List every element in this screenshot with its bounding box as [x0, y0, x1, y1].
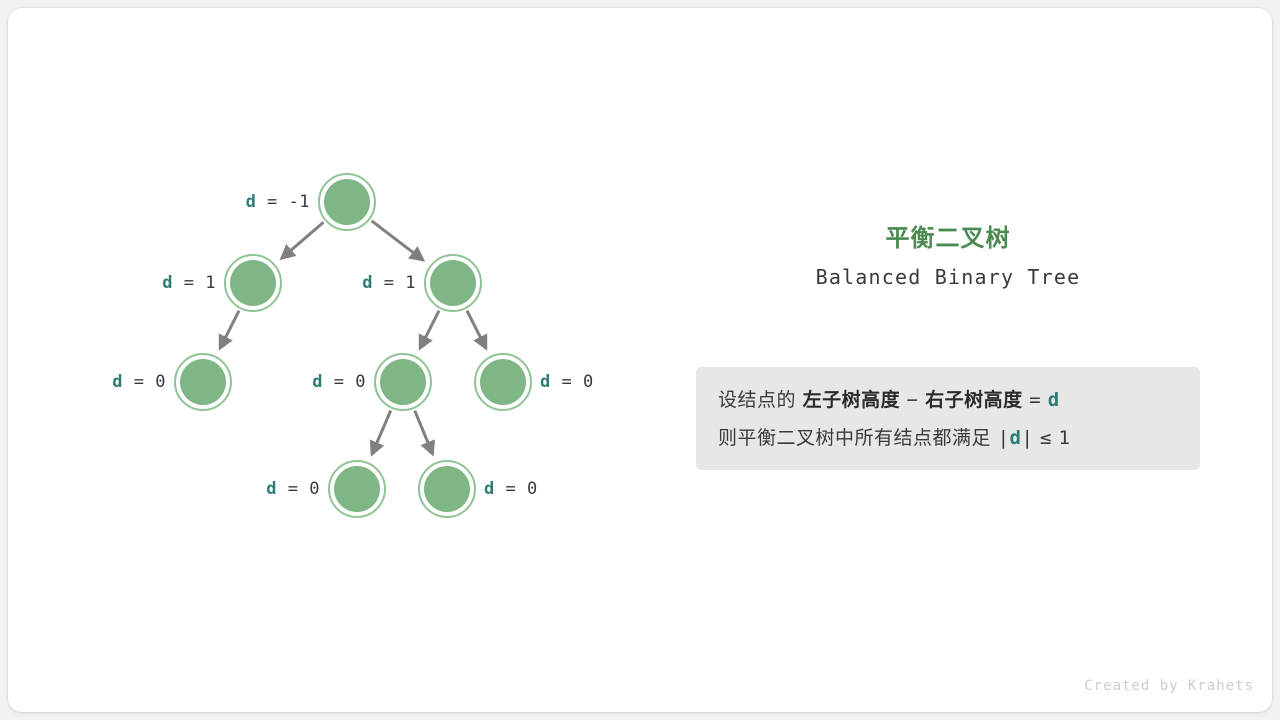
binary-tree-diagram [0, 0, 1280, 720]
node-label-value: = 0 [277, 479, 320, 499]
node-label-variable: d [362, 273, 373, 293]
tree-node[interactable] [475, 354, 531, 410]
node-label-value: = 0 [323, 372, 366, 392]
tree-edge [282, 222, 324, 258]
tree-edge [467, 311, 486, 348]
node-balance-label: d = 1 [162, 273, 216, 293]
node-fill [230, 260, 276, 306]
node-fill [324, 179, 370, 225]
tree-node[interactable] [329, 461, 385, 517]
node-label-value: = 1 [173, 273, 216, 293]
credit-footer: Created by Krahets [1084, 678, 1254, 694]
tree-edge [372, 221, 423, 260]
node-balance-label: d = 0 [312, 372, 366, 392]
node-fill [480, 359, 526, 405]
definition-box: 设结点的 左子树高度 − 右子树高度 = d 则平衡二叉树中所有结点都满足 |d… [696, 367, 1200, 470]
panel-subtitle: Balanced Binary Tree [696, 262, 1200, 292]
node-label-value: = 0 [551, 372, 594, 392]
minus-operator: − [907, 389, 919, 411]
node-fill [180, 359, 226, 405]
tree-node[interactable] [175, 354, 231, 410]
node-balance-label: d = 0 [112, 372, 166, 392]
node-label-variable: d [540, 372, 551, 392]
panel-title: 平衡二叉树 [696, 222, 1200, 254]
node-label-variable: d [112, 372, 123, 392]
abs-bar-close: | [1021, 427, 1033, 449]
d-variable-abs: d [1010, 427, 1022, 449]
node-balance-label: d = 0 [540, 372, 594, 392]
definition-line-1: 设结点的 左子树高度 − 右子树高度 = d [718, 381, 1178, 419]
node-label-variable: d [312, 372, 323, 392]
definition-prefix: 设结点的 [718, 389, 796, 411]
tree-node[interactable] [425, 255, 481, 311]
tree-nodes [175, 174, 531, 517]
node-label-value: = -1 [256, 192, 310, 212]
node-balance-label: d = 0 [484, 479, 538, 499]
node-balance-label: d = 1 [362, 273, 416, 293]
node-fill [380, 359, 426, 405]
node-balance-label: d = 0 [266, 479, 320, 499]
node-label-variable: d [246, 192, 257, 212]
node-label-variable: d [484, 479, 495, 499]
definition-line-2: 则平衡二叉树中所有结点都满足 |d| ≤ 1 [718, 419, 1178, 457]
node-label-variable: d [162, 273, 173, 293]
node-balance-label: d = -1 [246, 192, 310, 212]
node-label-value: = 0 [123, 372, 166, 392]
info-panel: 平衡二叉树 Balanced Binary Tree [696, 222, 1200, 292]
abs-bar-open: | [998, 427, 1010, 449]
tree-edge [372, 410, 391, 454]
node-fill [424, 466, 470, 512]
bound-value: 1 [1058, 427, 1070, 449]
tree-node[interactable] [319, 174, 375, 230]
screenshot-canvas: d = -1d = 1d = 1d = 0d = 0d = 0d = 0d = … [0, 0, 1280, 720]
tree-node[interactable] [419, 461, 475, 517]
tree-node[interactable] [375, 354, 431, 410]
d-variable: d [1048, 389, 1060, 411]
equals-operator: = [1029, 389, 1041, 411]
right-subtree-height-term: 右子树高度 [925, 389, 1023, 411]
tree-edge [220, 311, 239, 348]
node-label-value: = 0 [495, 479, 538, 499]
less-equal-operator: ≤ [1040, 427, 1052, 449]
left-subtree-height-term: 左子树高度 [803, 389, 901, 411]
tree-edge [420, 311, 439, 348]
node-label-value: = 1 [373, 273, 416, 293]
node-fill [334, 466, 380, 512]
node-label-variable: d [266, 479, 277, 499]
node-fill [430, 260, 476, 306]
condition-prefix: 则平衡二叉树中所有结点都满足 [718, 427, 991, 449]
tree-node[interactable] [225, 255, 281, 311]
tree-edge [415, 411, 433, 454]
